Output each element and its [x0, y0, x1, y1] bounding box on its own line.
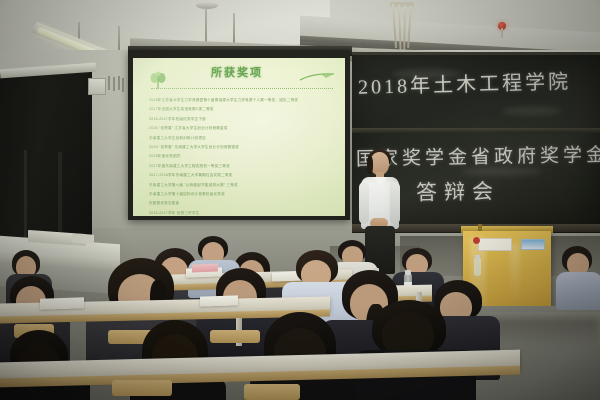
fixture-stem — [501, 28, 503, 38]
bottle-cap-icon — [475, 255, 480, 259]
projected-slide: 所获奖项 2016年江苏省大学生力学竞赛暨第十届周培源大学生力学竞赛个人赛一等奖… — [133, 58, 345, 216]
desk-paper — [200, 295, 238, 306]
chair-back — [244, 384, 300, 400]
chair-back — [112, 380, 172, 396]
water-bottle-icon — [474, 258, 481, 276]
wall-hooks-icon — [108, 76, 124, 92]
presenter-arm-right — [390, 182, 400, 224]
blackboard-line-3: 答辩会 — [416, 175, 501, 206]
desk-paper — [40, 297, 84, 310]
audience-person — [356, 300, 476, 400]
blackboard-line-1: 2018年土木工程学院 — [358, 65, 572, 100]
counter-object — [72, 233, 94, 244]
blackboard-divider — [352, 128, 600, 133]
audience-person — [556, 246, 600, 308]
podium-blue-label — [521, 239, 545, 250]
podium-sheen — [510, 244, 520, 304]
wall-mounted-box-icon — [88, 78, 106, 95]
ceiling-disc-fixture — [196, 2, 218, 9]
podium-red-dot-icon — [473, 237, 480, 244]
classroom-photo: 所获奖项 2016年江苏省大学生力学竞赛暨第十届周培源大学生力学竞赛个人赛一等奖… — [0, 0, 600, 400]
podium-white-label — [478, 238, 512, 251]
slide-glare — [133, 58, 345, 216]
presenter-hair-side — [367, 156, 373, 174]
window-curtain — [0, 72, 92, 252]
presenter-arm-left — [359, 182, 369, 224]
hanging-rod-icon — [205, 8, 207, 46]
hanging-rod-icon — [233, 13, 235, 43]
